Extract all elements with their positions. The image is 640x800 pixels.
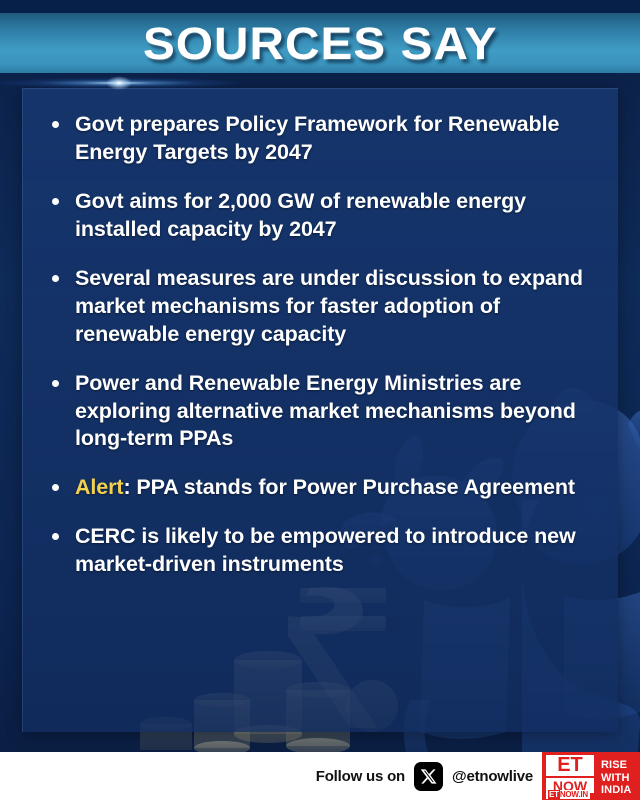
list-item: Power and Renewable Energy Ministries ar… <box>49 370 602 454</box>
footer-bar: Follow us on @etnowlive ET NOW RISE WITH… <box>0 752 640 800</box>
bullet-list: Govt prepares Policy Framework for Renew… <box>49 111 602 579</box>
list-item: CERC is likely to be empowered to introd… <box>49 523 602 579</box>
bullet-text: CERC is likely to be empowered to introd… <box>75 524 576 576</box>
social-handle[interactable]: @etnowlive <box>452 768 533 785</box>
sources-say-card: SOURCES SAY Govt prepares Policy Framewo… <box>0 0 640 800</box>
page-title: SOURCES SAY <box>143 21 498 66</box>
tagline-line-1: RISE <box>601 759 627 771</box>
alert-label: Alert <box>75 475 123 499</box>
list-item-alert: Alert: PPA stands for Power Purchase Agr… <box>49 474 602 502</box>
bullet-text: Several measures are under discussion to… <box>75 266 583 346</box>
bullet-text: Power and Renewable Energy Ministries ar… <box>75 371 576 451</box>
bullet-text: Govt prepares Policy Framework for Renew… <box>75 112 559 164</box>
bullet-text: Govt aims for 2,000 GW of renewable ener… <box>75 189 526 241</box>
tagline-line-3: INDIA <box>601 784 631 796</box>
list-item: Several measures are under discussion to… <box>49 265 602 349</box>
list-item: Govt prepares Policy Framework for Renew… <box>49 111 602 167</box>
et-mark: ET <box>546 755 594 776</box>
tagline: RISE WITH INDIA <box>597 752 640 800</box>
content-panel: Govt prepares Policy Framework for Renew… <box>22 88 618 732</box>
bullet-text: : PPA stands for Power Purchase Agreemen… <box>123 475 575 499</box>
etnow-website-text: NOW.IN <box>560 790 588 799</box>
top-strip <box>0 0 640 13</box>
etnow-logo[interactable]: ET NOW RISE WITH INDIA ETNOW.IN <box>542 752 640 800</box>
etnow-website: ETNOW.IN <box>546 790 590 799</box>
etnow-website-prefix: ET <box>548 790 560 799</box>
follow-us-label: Follow us on <box>316 768 405 785</box>
tagline-line-2: WITH <box>601 772 630 784</box>
list-item: Govt aims for 2,000 GW of renewable ener… <box>49 188 602 244</box>
header-band: SOURCES SAY <box>0 13 640 73</box>
x-twitter-icon[interactable] <box>414 762 443 791</box>
